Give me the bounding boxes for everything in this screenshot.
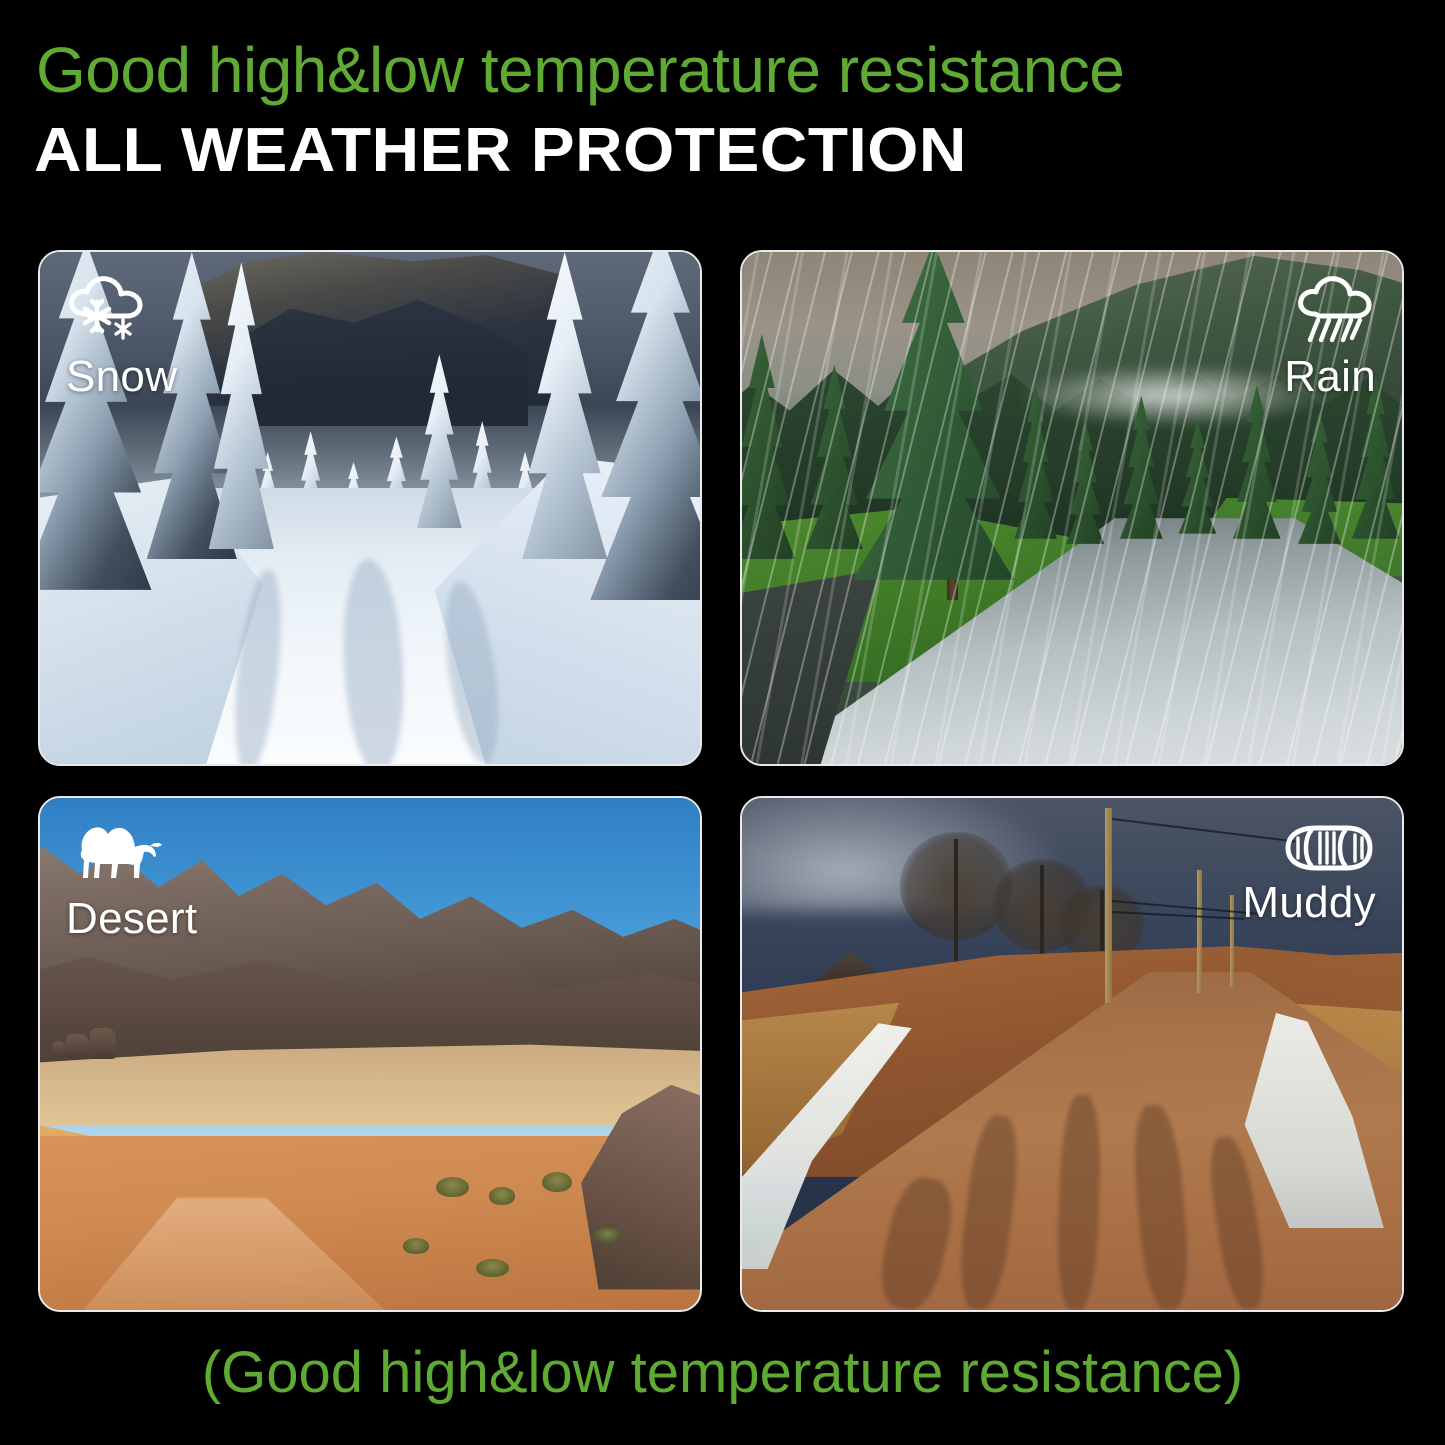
desert-label: Desert xyxy=(66,894,197,943)
snow-label: Snow xyxy=(66,352,177,401)
weather-panel-desert: Desert xyxy=(38,796,702,1312)
weather-panel-snow: Snow xyxy=(38,250,702,766)
headline-text: Good high&low temperature resistance xyxy=(36,38,1416,102)
boot-print-icon xyxy=(1242,820,1376,881)
weather-panel-muddy: Muddy xyxy=(740,796,1404,1312)
promo-banner: Good high&low temperature resistance ALL… xyxy=(0,0,1445,1445)
desert-badge: Desert xyxy=(66,820,197,941)
muddy-badge: Muddy xyxy=(1242,820,1376,925)
muddy-label: Muddy xyxy=(1242,878,1376,927)
footer-caption: (Good high&low temperature resistance) xyxy=(0,1344,1445,1402)
snow-badge: Snow xyxy=(66,274,177,399)
rain-label: Rain xyxy=(1284,352,1376,401)
camel-icon xyxy=(66,820,197,897)
weather-panel-rain: Rain xyxy=(740,250,1404,766)
rain-badge: Rain xyxy=(1284,274,1376,399)
subheadline-text: ALL WEATHER PROTECTION xyxy=(34,120,967,182)
cloud-snow-icon xyxy=(66,274,177,355)
cloud-rain-icon xyxy=(1284,274,1376,355)
weather-panel-grid: Snow xyxy=(38,250,1406,1312)
